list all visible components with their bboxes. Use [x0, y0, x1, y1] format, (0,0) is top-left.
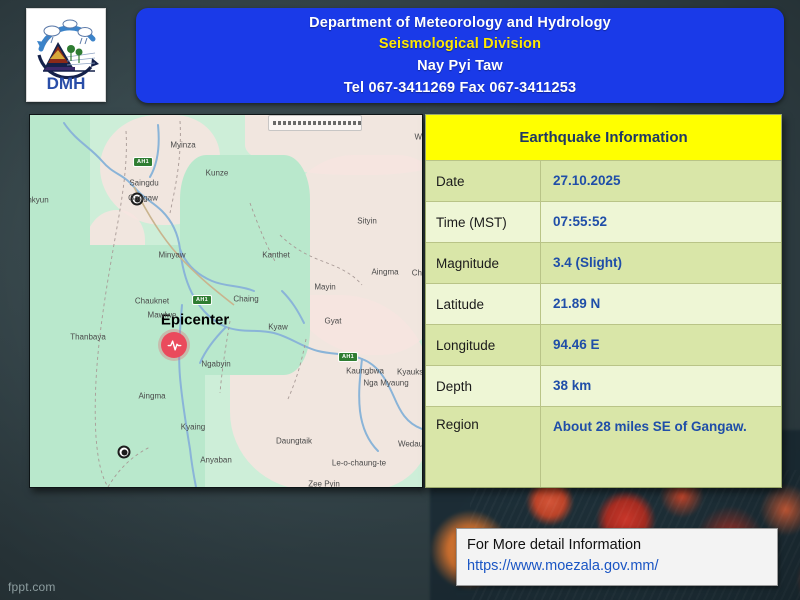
- map-place-label: Ngabyin: [201, 360, 230, 369]
- map-place-label: Thanbaya: [70, 333, 106, 342]
- more-info-box: For More detail Information https://www.…: [456, 528, 778, 586]
- more-info-link[interactable]: https://www.moezala.gov.mm/: [467, 556, 767, 577]
- dmh-wordmark: DMH: [47, 74, 86, 93]
- map-place-label: Zee Pyin: [308, 480, 340, 489]
- epicenter-map[interactable]: Epicenter AH1AH1AH1 MyinzaKunzeSaingduGa…: [29, 114, 423, 488]
- map-place-label: Wingon: [414, 133, 423, 142]
- info-row-longitude: Longitude94.46 E: [426, 325, 781, 366]
- info-panel-rows: Date27.10.2025Time (MST)07:55:52Magnitud…: [426, 161, 781, 487]
- highway-shield-icon: AH1: [338, 352, 358, 362]
- info-row-label: Longitude: [426, 325, 541, 365]
- info-panel-title: Earthquake Information: [426, 115, 781, 161]
- map-place-label: Wedaung: [398, 440, 423, 449]
- map-place-label: Kyaw: [268, 323, 288, 332]
- info-row-region: RegionAbout 28 miles SE of Gangaw.: [426, 407, 781, 487]
- map-place-label: Nga Myaung: [363, 379, 408, 388]
- info-row-value: 38 km: [541, 366, 781, 406]
- header-line-department: Department of Meteorology and Hydrology: [309, 13, 611, 34]
- info-row-value: 07:55:52: [541, 202, 781, 242]
- info-row-magnitude: Magnitude3.4 (Slight): [426, 243, 781, 284]
- map-place-label: Le-o-chaung-te: [332, 459, 386, 468]
- agency-header-banner: Department of Meteorology and Hydrology …: [136, 8, 784, 103]
- map-place-label: Chin: [412, 269, 423, 278]
- map-place-label: Chauknet: [135, 297, 169, 306]
- map-place-label: Kyauksaung: [397, 368, 423, 377]
- map-place-label: Gyat: [325, 317, 342, 326]
- info-row-date: Date27.10.2025: [426, 161, 781, 202]
- map-place-label: Aingma: [371, 268, 398, 277]
- header-line-city: Nay Pyi Taw: [417, 56, 503, 77]
- highway-shield-icon: AH1: [133, 157, 153, 167]
- info-row-value: 94.46 E: [541, 325, 781, 365]
- map-place-label: Mawlwe: [148, 311, 177, 320]
- fppt-watermark: fppt.com: [8, 580, 56, 594]
- map-place-label: Anyaban: [200, 456, 232, 465]
- info-row-depth: Depth38 km: [426, 366, 781, 407]
- map-place-label: Gangaw: [128, 194, 158, 203]
- map-place-label: Sityin: [357, 217, 377, 226]
- map-place-label: Myinza: [170, 141, 195, 150]
- map-place-label: Mayin: [314, 283, 335, 292]
- header-line-contact: Tel 067-3411269 Fax 067-3411253: [344, 78, 577, 99]
- map-place-label: Minyaw: [158, 251, 185, 260]
- info-row-time-mst: Time (MST)07:55:52: [426, 202, 781, 243]
- earthquake-information-panel: Earthquake Information Date27.10.2025Tim…: [425, 114, 782, 488]
- map-place-label: Chaing: [233, 295, 258, 304]
- info-row-label: Depth: [426, 366, 541, 406]
- info-row-label: Date: [426, 161, 541, 201]
- info-row-label: Time (MST): [426, 202, 541, 242]
- map-place-label: Kanthet: [262, 251, 290, 260]
- dmh-logo: DMH: [26, 8, 106, 102]
- dmh-logo-icon: DMH: [27, 9, 105, 101]
- header-line-division: Seismological Division: [379, 34, 541, 55]
- info-row-value: 21.89 N: [541, 284, 781, 324]
- info-row-value: About 28 miles SE of Gangaw.: [541, 407, 781, 487]
- map-place-label: Aingma: [138, 392, 165, 401]
- info-row-label: Latitude: [426, 284, 541, 324]
- more-info-label: For More detail Information: [467, 535, 767, 556]
- epicenter-marker[interactable]: [161, 332, 187, 358]
- map-place-label: nkyun: [29, 196, 49, 205]
- info-row-value: 27.10.2025: [541, 161, 781, 201]
- map-place-label: Kaungbwa: [346, 367, 384, 376]
- map-burmese-label-strip: [268, 115, 362, 131]
- info-row-label: Region: [426, 407, 541, 487]
- map-place-label: Kyaing: [181, 423, 205, 432]
- map-place-label: Saingdu: [129, 179, 158, 188]
- info-row-value: 3.4 (Slight): [541, 243, 781, 283]
- map-city-marker-tilin[interactable]: [118, 446, 131, 459]
- highway-shield-icon: AH1: [192, 295, 212, 305]
- info-row-latitude: Latitude21.89 N: [426, 284, 781, 325]
- map-place-label: Daungtaik: [276, 437, 312, 446]
- map-place-label: Kunze: [206, 169, 229, 178]
- seismograph-wave-icon: [167, 338, 182, 353]
- info-row-label: Magnitude: [426, 243, 541, 283]
